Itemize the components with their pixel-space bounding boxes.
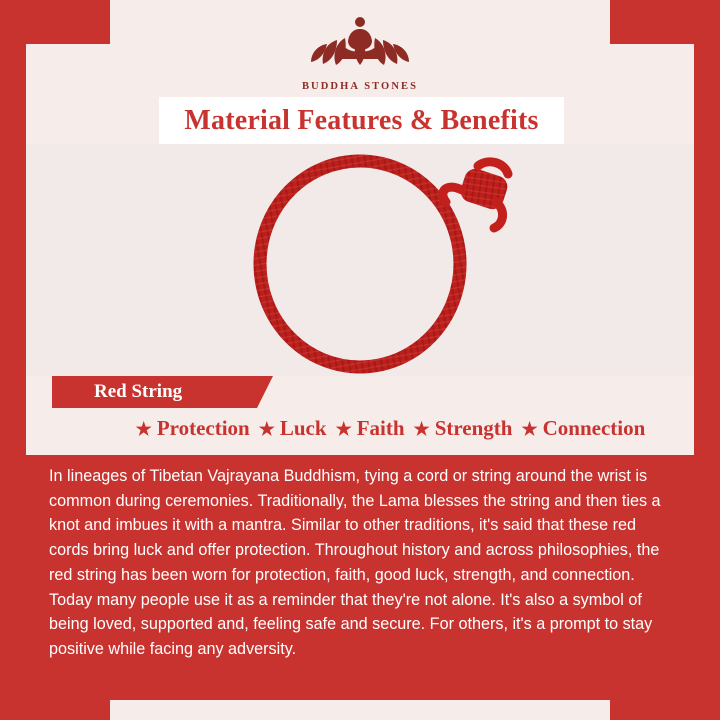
product-label-band: Red String bbox=[52, 376, 257, 408]
keyword-item: ★ Faith bbox=[327, 416, 405, 441]
keyword-label: Faith bbox=[357, 416, 405, 441]
star-icon: ★ bbox=[259, 420, 275, 438]
keyword-item: ★ Luck bbox=[250, 416, 327, 441]
product-image-zone bbox=[26, 144, 694, 376]
frame-notch-bottom-left bbox=[26, 676, 110, 720]
product-label-notch bbox=[257, 376, 273, 408]
keyword-item: ★ Protection bbox=[127, 416, 250, 441]
brand-name: BUDDHA STONES bbox=[26, 81, 694, 92]
star-icon: ★ bbox=[336, 420, 352, 438]
star-icon: ★ bbox=[136, 420, 152, 438]
red-string-bracelet-image bbox=[26, 144, 694, 376]
infographic-page: BUDDHA STONES Material Features & Benefi… bbox=[0, 0, 720, 720]
description-text: In lineages of Tibetan Vajrayana Buddhis… bbox=[49, 464, 676, 662]
keyword-label: Protection bbox=[157, 416, 250, 441]
keyword-item: ★ Strength bbox=[405, 416, 513, 441]
keyword-label: Connection bbox=[543, 416, 646, 441]
product-label: Red String bbox=[52, 381, 182, 403]
frame-notch-bottom-right bbox=[610, 676, 694, 720]
keyword-label: Luck bbox=[280, 416, 327, 441]
frame-bar-left bbox=[0, 0, 26, 720]
brand-logo: BUDDHA STONES bbox=[26, 12, 694, 92]
content-area: BUDDHA STONES Material Features & Benefi… bbox=[26, 0, 694, 720]
frame-notch-top-left bbox=[26, 0, 110, 44]
title-band: Material Features & Benefits bbox=[159, 97, 564, 144]
keyword-item: ★ Connection bbox=[512, 416, 645, 441]
star-icon: ★ bbox=[414, 420, 430, 438]
page-title: Material Features & Benefits bbox=[184, 105, 538, 137]
frame-bar-right bbox=[694, 0, 720, 720]
frame-notch-top-right bbox=[610, 0, 694, 44]
keyword-list: ★ Protection ★ Luck ★ Faith ★ Strength ★… bbox=[52, 416, 720, 441]
keyword-label: Strength bbox=[435, 416, 513, 441]
description-block: In lineages of Tibetan Vajrayana Buddhis… bbox=[26, 455, 694, 700]
star-icon: ★ bbox=[521, 420, 537, 438]
buddha-lotus-logo-icon bbox=[305, 12, 415, 74]
